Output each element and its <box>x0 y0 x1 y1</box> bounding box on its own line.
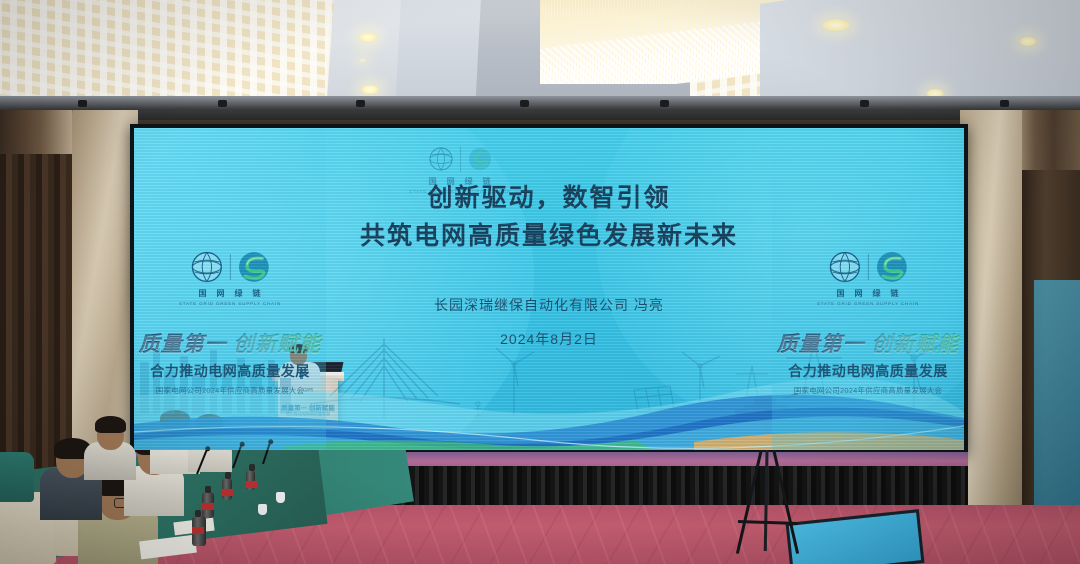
track-fixture <box>520 100 529 107</box>
logo-divider <box>230 254 231 280</box>
slide-title-line1: 创新驱动，数智引领 <box>326 180 772 218</box>
attendee <box>84 418 136 480</box>
slide-presenter: 长园深瑞继保自动化有限公司 冯亮 <box>326 295 772 315</box>
ceiling-downlight <box>360 84 380 95</box>
water-bottle <box>192 516 206 546</box>
banner-left-text: 质量第一 创新赋能 合力推动电网高质量发展 国家电网公司2024年供应商高质量发… <box>134 333 326 396</box>
globe-emblem-icon <box>828 250 862 284</box>
track-fixture <box>78 100 87 107</box>
bottle-label <box>246 481 258 488</box>
green-supply-swirl-icon <box>237 250 271 284</box>
attendee-hair <box>95 416 126 433</box>
logo-divider <box>868 254 869 280</box>
ceiling-downlight <box>820 18 852 32</box>
water-bottle <box>246 470 255 490</box>
track-fixture <box>860 100 869 107</box>
track-fixture <box>356 100 365 107</box>
globe-emblem-icon <box>190 250 224 284</box>
green-supply-swirl-icon <box>875 250 909 284</box>
banner-left: 国 网 绿 链 STATE GRID GREEN SUPPLY CHAIN 质量… <box>134 128 326 450</box>
track-fixture <box>1000 100 1009 107</box>
conference-hall-photo: 国 网 绿 链 STATE GRID GREEN SUPPLY CHAIN <box>0 0 1080 564</box>
banner-headline: 质量第一 创新赋能 <box>134 333 326 357</box>
logo-char: 网 <box>855 288 864 299</box>
state-grid-logo: 国 网 绿 链 STATE GRID GREEN SUPPLY CHAIN <box>817 250 919 306</box>
logo-char: 链 <box>253 288 262 299</box>
ceiling-downlight <box>358 32 378 43</box>
water-bottle <box>202 492 214 518</box>
door-glass <box>1034 280 1080 524</box>
bottle-label <box>222 489 234 496</box>
banner-left-logo: 国 网 绿 链 STATE GRID GREEN SUPPLY CHAIN <box>179 250 281 306</box>
logo-en-text: STATE GRID GREEN SUPPLY CHAIN <box>817 301 919 306</box>
marble-pillar-right <box>960 110 1022 564</box>
track-fixture <box>218 100 227 107</box>
logo-en-text: STATE GRID GREEN SUPPLY CHAIN <box>179 301 281 306</box>
cup <box>276 492 285 503</box>
cup <box>258 504 267 515</box>
state-grid-logo: 国 网 绿 链 STATE GRID GREEN SUPPLY CHAIN <box>179 250 281 306</box>
logo-char: 绿 <box>235 288 244 299</box>
wall-right <box>960 110 1080 564</box>
banner-subline: 合力推动电网高质量发展 <box>134 361 326 381</box>
chair-teal <box>0 452 34 502</box>
ceiling-light-track <box>0 96 1080 120</box>
banner-headline: 质量第一 创新赋能 <box>772 333 964 357</box>
logo-char: 国 <box>837 288 846 299</box>
banner-footline: 国家电网公司2024年供应商高质量发展大会 <box>772 385 964 396</box>
banner-right-logo: 国 网 绿 链 STATE GRID GREEN SUPPLY CHAIN <box>817 250 919 306</box>
globe-emblem-icon <box>428 146 454 172</box>
water-bottle <box>222 478 232 500</box>
logo-cn-text: 国 网 绿 链 <box>837 288 900 299</box>
banner-right-text: 质量第一 创新赋能 合力推动电网高质量发展 国家电网公司2024年供应商高质量发… <box>772 333 964 396</box>
banner-subline: 合力推动电网高质量发展 <box>772 361 964 381</box>
wind-turbine-icon <box>496 348 534 416</box>
green-supply-swirl-icon <box>467 146 493 172</box>
ceiling-downlight <box>1018 36 1038 47</box>
slide-title-line2: 共筑电网高质量绿色发展新未来 <box>326 218 772 256</box>
logo-char: 绿 <box>873 288 882 299</box>
slide-center-content: 创新驱动，数智引领 共筑电网高质量绿色发展新未来 长园深瑞继保自动化有限公司 冯… <box>326 180 772 349</box>
banner-footline: 国家电网公司2024年供应商高质量发展大会 <box>134 385 326 396</box>
logo-char: 国 <box>199 288 208 299</box>
logo-char: 网 <box>217 288 226 299</box>
slide-date: 2024年8月2日 <box>326 329 772 349</box>
bottle-label <box>202 503 214 510</box>
logo-char: 链 <box>891 288 900 299</box>
led-screen: 国 网 绿 链 STATE GRID GREEN SUPPLY CHAIN <box>134 128 964 450</box>
logo-cn-text: 国 网 绿 链 <box>199 288 262 299</box>
bottle-label <box>192 527 204 534</box>
ceiling-downlight <box>358 58 367 63</box>
banner-right: 国 网 绿 链 STATE GRID GREEN SUPPLY CHAIN 质量… <box>772 128 964 450</box>
logo-divider <box>460 146 461 172</box>
track-fixture <box>660 100 669 107</box>
led-screen-frame: 国 网 绿 链 STATE GRID GREEN SUPPLY CHAIN <box>130 124 968 454</box>
